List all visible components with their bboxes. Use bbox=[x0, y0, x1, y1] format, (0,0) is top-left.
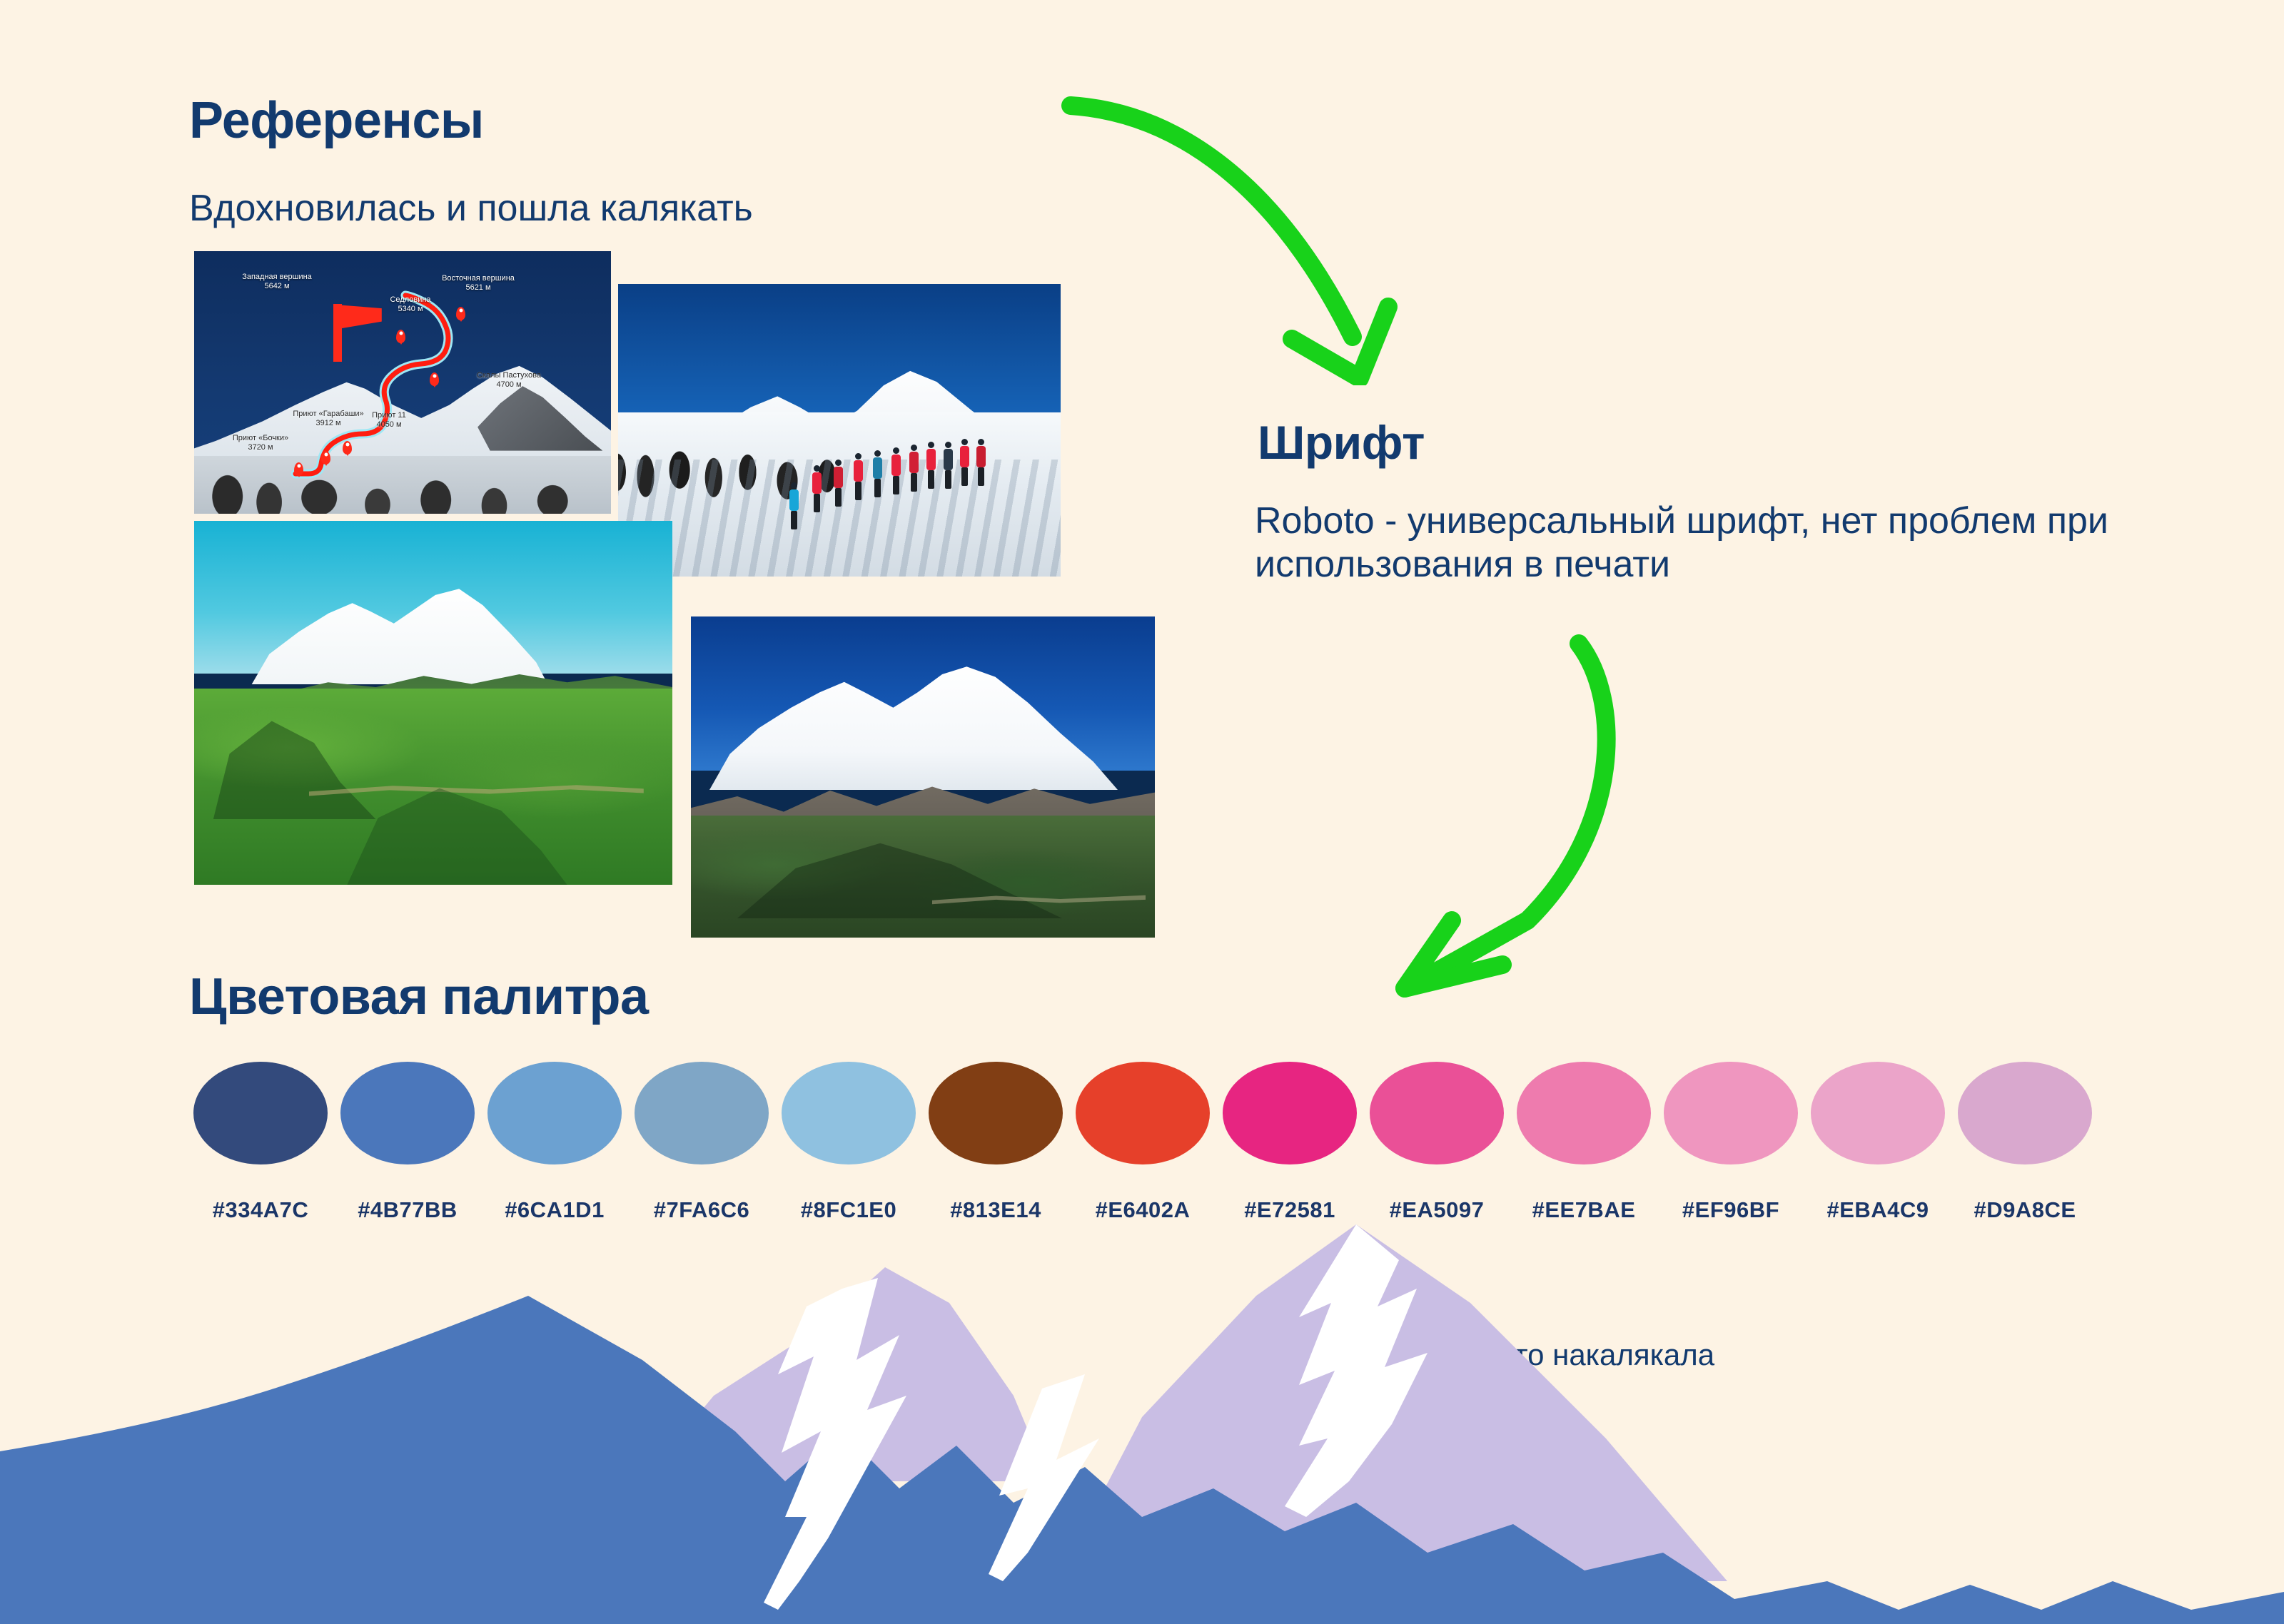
swatch-dot bbox=[340, 1062, 475, 1164]
swatch-dot bbox=[1370, 1062, 1504, 1164]
hiker bbox=[873, 450, 882, 497]
hiker bbox=[854, 453, 863, 500]
hiker bbox=[944, 442, 953, 489]
font-section-title: Шрифт bbox=[1258, 415, 1425, 470]
swatch-dot bbox=[1223, 1062, 1357, 1164]
hiker bbox=[789, 482, 799, 529]
swatch-dot bbox=[929, 1062, 1063, 1164]
route-marker bbox=[321, 451, 330, 465]
font-section-body: Roboto - универсальный шрифт, нет пробле… bbox=[1255, 499, 2176, 587]
swatch-dot bbox=[635, 1062, 769, 1164]
swatch-dot bbox=[1958, 1062, 2092, 1164]
hiker bbox=[909, 445, 919, 492]
reference-photo-hikers-on-ridge bbox=[618, 284, 1061, 577]
label-west-summit: Западная вершина 5642 м bbox=[213, 273, 341, 290]
swatch-dot bbox=[487, 1062, 622, 1164]
reference-photo-elbrus-summer bbox=[691, 616, 1155, 938]
swatch-dot bbox=[1664, 1062, 1798, 1164]
references-title: Референсы bbox=[189, 91, 484, 150]
hiker bbox=[834, 460, 843, 507]
route-marker bbox=[396, 330, 405, 343]
references-subtitle: Вдохновилась и пошла калякать bbox=[189, 187, 753, 230]
route-marker bbox=[430, 372, 439, 386]
swatch-dot bbox=[1811, 1062, 1945, 1164]
hiker bbox=[976, 439, 986, 486]
label-east-summit: Восточная вершина 5621 м bbox=[421, 274, 535, 292]
curved-arrow-to-font-icon bbox=[1028, 71, 1470, 385]
label-garabashi: Приют «Гарабаши» 3912 м bbox=[285, 410, 371, 427]
palette-title: Цветовая палитра bbox=[189, 968, 648, 1026]
route-marker bbox=[294, 462, 303, 476]
reference-photo-elbrus-route-map: Западная вершина 5642 м Восточная вершин… bbox=[194, 251, 611, 514]
swatch-dot bbox=[193, 1062, 328, 1164]
label-saddle: Седловина 5340 м bbox=[364, 295, 457, 313]
swatch-dot bbox=[1517, 1062, 1651, 1164]
poster-canvas: Референсы Вдохновилась и пошла калякать … bbox=[0, 0, 2284, 1624]
mountain-illustration bbox=[0, 1182, 2284, 1624]
reference-photo-green-valley bbox=[194, 521, 672, 885]
curved-arrow-to-palette-icon bbox=[1356, 614, 1656, 1027]
swatch-dot bbox=[1076, 1062, 1210, 1164]
route-marker bbox=[456, 307, 465, 320]
hiker bbox=[960, 439, 969, 486]
hiker bbox=[891, 447, 901, 494]
hiker bbox=[926, 442, 936, 489]
swatch-dot bbox=[782, 1062, 916, 1164]
label-bochki: Приют «Бочки» 3720 м bbox=[221, 434, 300, 452]
route-marker bbox=[343, 441, 352, 455]
hiker bbox=[812, 465, 822, 512]
label-pastukhov-rocks: Скалы Пастухова 4700 м bbox=[448, 371, 570, 389]
